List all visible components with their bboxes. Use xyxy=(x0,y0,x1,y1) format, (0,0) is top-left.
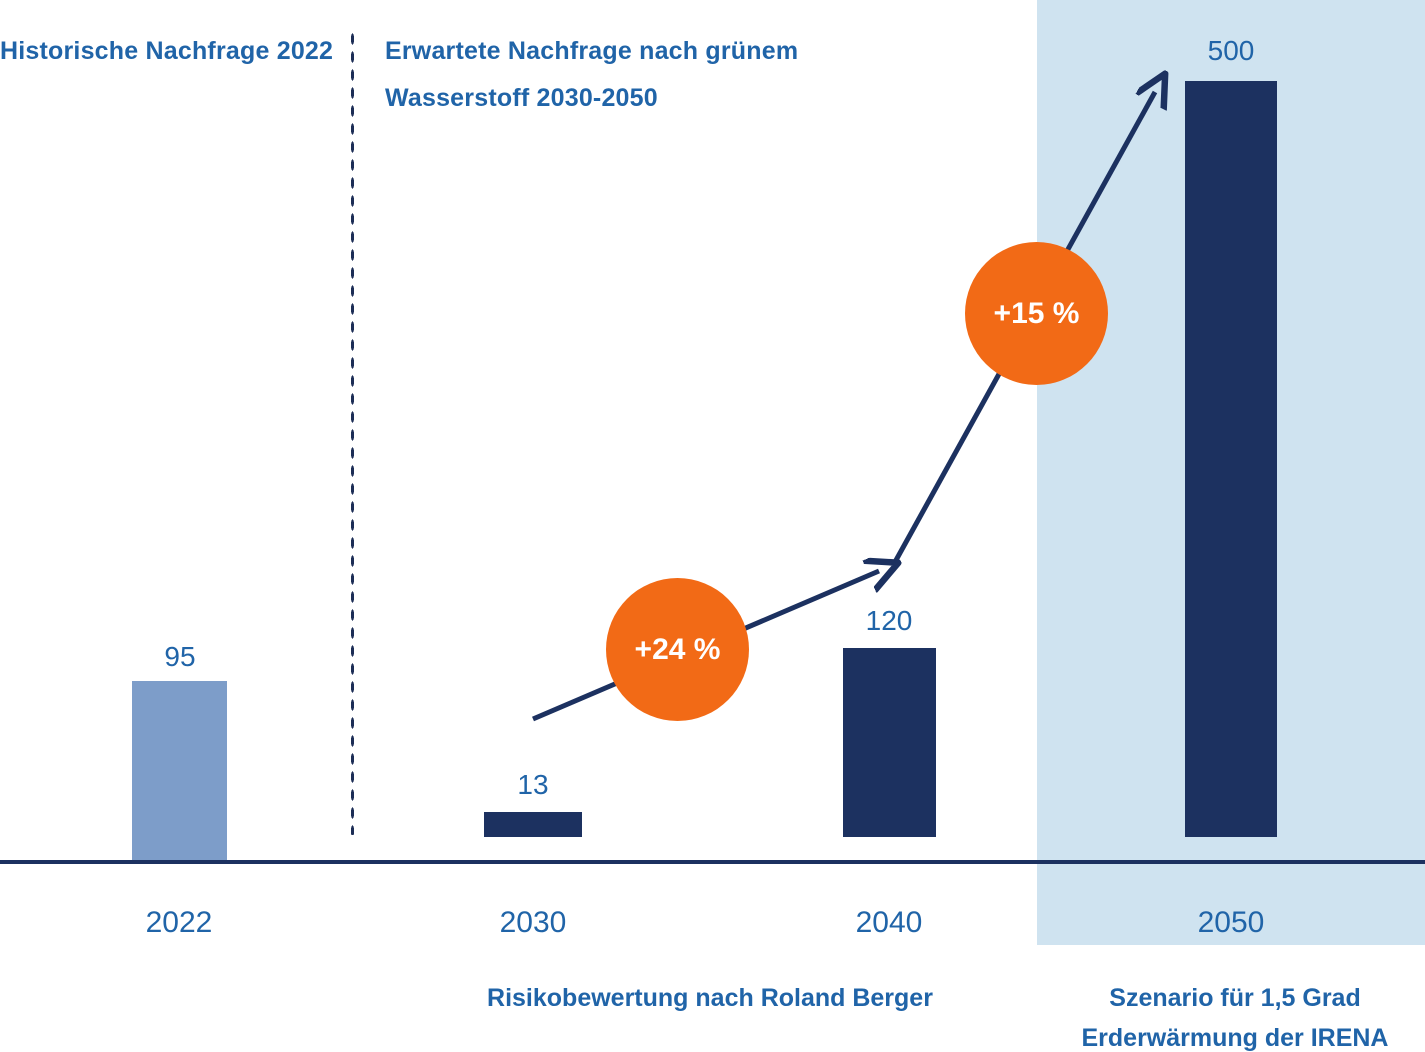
bar-2050 xyxy=(1185,81,1277,837)
bar-value-2022: 95 xyxy=(120,641,240,673)
x-tick-2040: 2040 xyxy=(829,906,949,940)
x-tick-2022: 2022 xyxy=(119,906,239,940)
footer-irena-scenario: Szenario für 1,5 Grad Erderwärmung der I… xyxy=(1035,978,1425,1052)
bar-2022 xyxy=(132,681,227,860)
bar-value-2030: 13 xyxy=(473,769,593,801)
bar-value-2050: 500 xyxy=(1171,35,1291,67)
x-tick-2030: 2030 xyxy=(473,906,593,940)
growth-badge-15: +15 % xyxy=(965,242,1108,385)
expected-demand-header: Erwartete Nachfrage nach grünem Wasserst… xyxy=(385,28,815,122)
x-tick-2050: 2050 xyxy=(1171,906,1291,940)
history-forecast-divider xyxy=(350,30,355,835)
bar-2030 xyxy=(484,812,582,837)
historical-demand-header: Historische Nachfrage 2022 xyxy=(0,28,340,75)
bar-2040 xyxy=(843,648,936,837)
x-axis-line xyxy=(0,860,1425,864)
growth-badge-24: +24 % xyxy=(606,578,749,721)
chart-canvas: Historische Nachfrage 2022 Erwartete Nac… xyxy=(0,0,1425,1052)
footer-risk-assessment: Risikobewertung nach Roland Berger xyxy=(430,978,990,1018)
bar-value-2040: 120 xyxy=(829,605,949,637)
